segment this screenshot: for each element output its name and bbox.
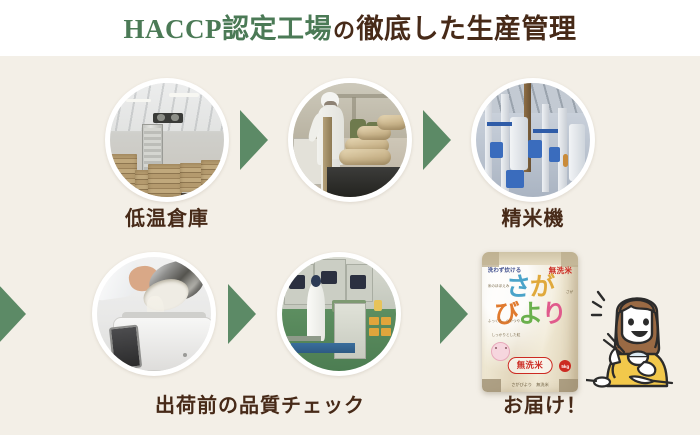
ceiling-lamp-icon xyxy=(126,99,151,102)
cooling-unit-icon xyxy=(153,113,183,123)
worker-handling-rice-bags-photo xyxy=(293,83,407,197)
rice-milling-machine-photo xyxy=(476,83,590,197)
bag-microtext-right: さが xyxy=(566,290,573,295)
step-3-caption: 精米機 xyxy=(471,209,595,229)
conveyor-machine xyxy=(327,167,407,197)
machine-window xyxy=(321,271,337,285)
step-3-circle[interactable] xyxy=(471,78,595,202)
bag-stack xyxy=(110,154,137,194)
milling-tank xyxy=(569,124,585,181)
title-highlight: HACCP認定工場 xyxy=(123,14,332,44)
orange-indicator xyxy=(563,154,569,168)
page-title: HACCP認定工場の徹底した生産管理 xyxy=(123,16,576,43)
title-particle: の xyxy=(332,18,357,43)
machine-window xyxy=(350,275,366,289)
warehouse-ceiling xyxy=(110,83,224,131)
rice-sack xyxy=(339,149,391,165)
eye-left xyxy=(628,318,634,325)
step-1-circle[interactable] xyxy=(105,78,229,202)
bag-microtext-mid-2: しっかりとした粒 xyxy=(492,333,521,338)
bag-stack xyxy=(148,164,182,197)
bag-microtext-left: 米のほほえみ xyxy=(488,284,510,289)
bag-musenmai-seal: 無洗米 xyxy=(508,357,553,374)
hand-right xyxy=(638,362,655,376)
device-indicator-dot xyxy=(183,353,187,357)
bag-mascot-icon xyxy=(491,342,510,361)
blue-module xyxy=(549,147,560,162)
title-rest: 徹底した生産管理 xyxy=(357,14,577,44)
vertical-pipe xyxy=(542,104,549,193)
blue-module xyxy=(490,142,504,158)
yellow-equipment xyxy=(374,300,382,310)
factory-inspection-line-photo xyxy=(282,257,396,371)
step-5-caption: 出荷前の品質チェック xyxy=(150,396,370,416)
sparkle-icon xyxy=(592,292,604,315)
bag-microtext-mid-1: ふっくら、つやつや… xyxy=(488,319,524,324)
flow-arrow-2-icon xyxy=(423,110,451,170)
blue-frame-bar xyxy=(487,122,512,127)
step-2-circle[interactable] xyxy=(288,78,412,202)
rice-pouring-quality-device-photo xyxy=(97,257,211,371)
milling-tank xyxy=(510,117,528,169)
conveyor-belt xyxy=(291,343,355,353)
rice-sack xyxy=(377,115,407,130)
blue-frame-bar xyxy=(533,129,558,134)
step-6-caption: お届け！ xyxy=(470,396,620,416)
step-1-caption: 低温倉庫 xyxy=(105,209,229,229)
rice-package-photo[interactable]: 洗わず炊ける 無洗米 さが びより 米のほほえみ さが ふっくら、つやつや… し… xyxy=(482,252,578,392)
ceiling-lamp-icon xyxy=(169,93,199,96)
bag-stack xyxy=(201,160,224,196)
flow-arrow-5-icon xyxy=(440,284,468,344)
orange-crate xyxy=(369,328,379,336)
rice-bag-stacks xyxy=(110,133,224,197)
flow-arrow-3-icon xyxy=(0,284,26,344)
orange-crate xyxy=(381,328,391,336)
device-screen xyxy=(109,325,142,371)
machine-window xyxy=(289,275,305,289)
header-bar: HACCP認定工場の徹底した生産管理 xyxy=(0,0,700,56)
bag-stack xyxy=(135,170,149,196)
bag-bottom-corner-right xyxy=(559,379,578,392)
inspection-worker-figure xyxy=(307,282,325,341)
orange-crate xyxy=(369,317,379,325)
eye-right xyxy=(643,318,649,325)
rice-in-bowl xyxy=(628,352,648,357)
pallet xyxy=(181,193,206,196)
rice-bag-body: 洗わず炊ける 無洗米 さが びより 米のほほえみ さが ふっくら、つやつや… し… xyxy=(482,252,578,392)
bag-bottom-corner-left xyxy=(482,379,501,392)
device-orange-strip xyxy=(192,366,206,370)
flow-arrow-1-icon xyxy=(240,110,268,170)
cold-storage-warehouse-photo xyxy=(110,83,224,197)
step-4-circle[interactable] xyxy=(92,252,216,376)
blue-module xyxy=(506,170,524,188)
bag-weight-badge: 5kg xyxy=(559,360,571,372)
woman-eating-rice-illustration xyxy=(586,282,690,388)
pallet xyxy=(110,193,137,197)
bag-brand-line-1: さが xyxy=(506,273,554,301)
factory-roof xyxy=(476,83,590,113)
conveyor-rail xyxy=(287,336,321,342)
step-5-circle[interactable] xyxy=(277,252,401,376)
orange-crate xyxy=(381,317,391,325)
flow-arrow-4-icon xyxy=(228,284,256,344)
infographic-root: HACCP認定工場の徹底した生産管理 低温倉庫 xyxy=(0,0,700,435)
blue-module xyxy=(528,140,542,158)
